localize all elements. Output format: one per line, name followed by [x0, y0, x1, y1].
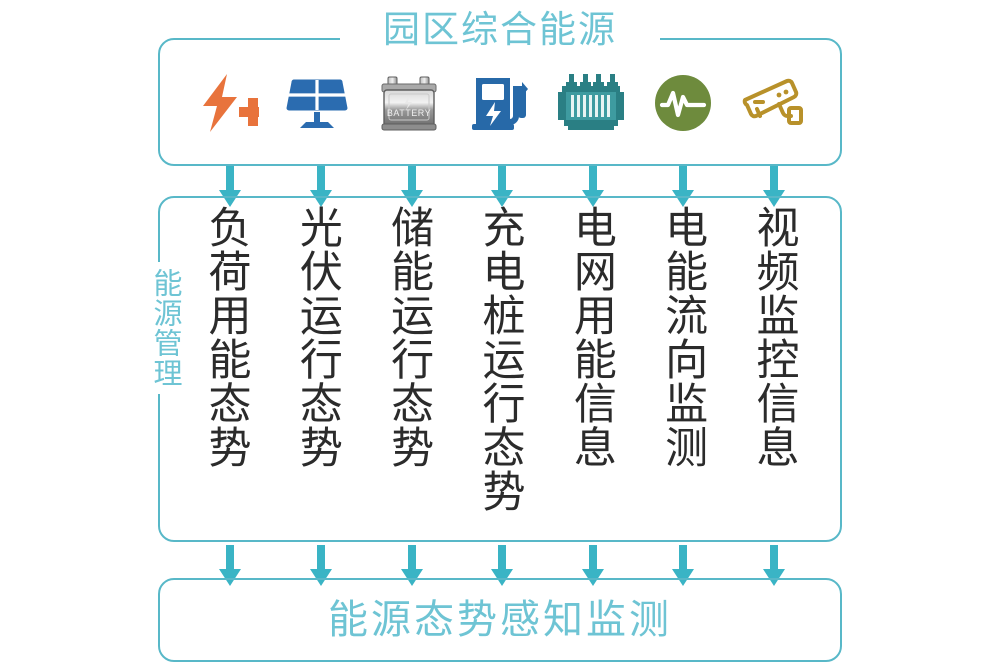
- solar-panel-icon: [277, 72, 357, 134]
- lightning-plus-icon: [186, 72, 266, 134]
- column-storage-operation: 储能运行态势: [369, 205, 449, 535]
- transformer-icon: [551, 72, 631, 134]
- column-video-surveillance-info: 视频监控信息: [734, 205, 814, 535]
- column-label: 电能流向监测: [658, 205, 708, 535]
- battery-icon: BATTERY: [369, 72, 449, 134]
- column-label: 储能运行态势: [384, 205, 434, 535]
- capability-column-row: 负荷用能态势 光伏运行态势 储能运行态势 充电桩运行态势 电网用能信息 电能流向…: [186, 205, 814, 535]
- column-label: 负荷用能态势: [201, 205, 251, 535]
- energy-architecture-diagram: 园区综合能源: [0, 0, 1000, 665]
- column-grid-energy-info: 电网用能信息: [551, 205, 631, 535]
- page-title: 园区综合能源: [340, 8, 660, 52]
- svg-text:BATTERY: BATTERY: [387, 108, 431, 118]
- column-label: 视频监控信息: [749, 205, 799, 535]
- column-charging-pile-operation: 充电桩运行态势: [460, 205, 540, 535]
- column-label: 电网用能信息: [566, 205, 616, 535]
- column-pv-operation: 光伏运行态势: [277, 205, 357, 535]
- pulse-circle-icon: [643, 72, 723, 134]
- column-load-energy: 负荷用能态势: [186, 205, 266, 535]
- cctv-camera-icon: [734, 72, 814, 134]
- energy-management-label: 能源管理: [148, 262, 182, 394]
- column-power-flow-monitor: 电能流向监测: [643, 205, 723, 535]
- column-label: 充电桩运行态势: [475, 205, 525, 535]
- energy-situation-awareness-label: 能源态势感知监测: [158, 592, 842, 648]
- ev-charger-icon: [460, 72, 540, 134]
- column-label: 光伏运行态势: [292, 205, 342, 535]
- source-icon-row: BATTERY: [186, 72, 814, 134]
